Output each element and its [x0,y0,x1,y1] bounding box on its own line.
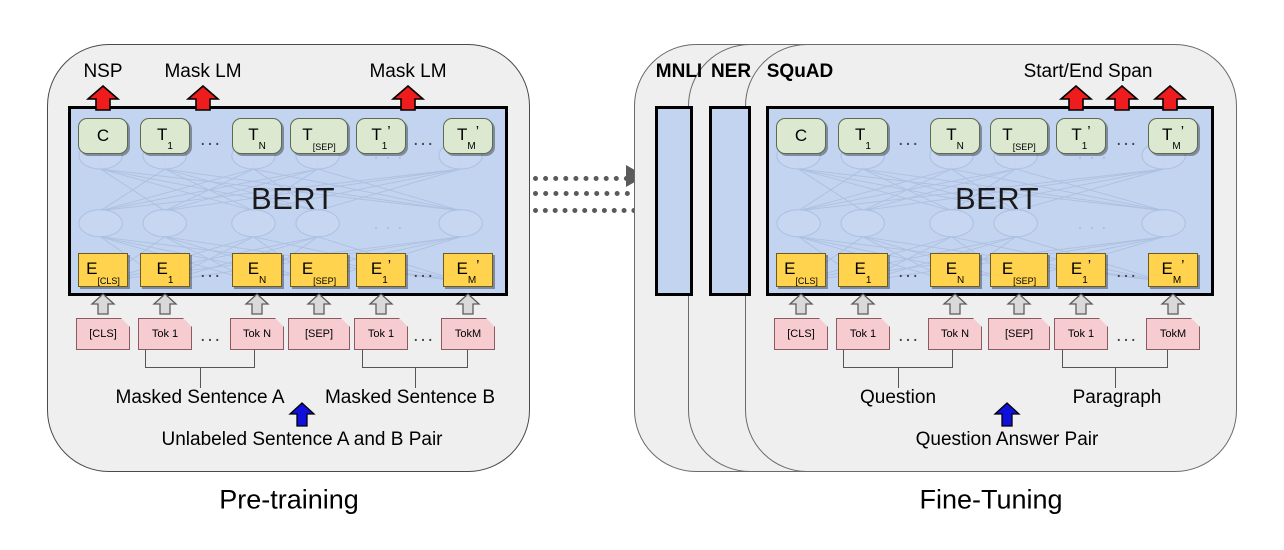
red-up-arrow-icon [86,85,120,111]
task-label-mnli: MNLI [656,61,702,83]
gray-up-arrow-icon [368,293,394,315]
embedding-ellipsis: ... [200,261,222,283]
gray-up-arrow-icon [244,293,270,315]
task-label-ner: NER [711,61,751,83]
token-text: TN [248,125,266,147]
token-text: T1 [855,125,871,147]
output-token: C [78,118,128,154]
output-token: TN [232,118,282,154]
token-text: E1’ [1071,259,1091,281]
bert-model-label: BERT [955,181,1039,217]
token-text: T1’ [371,125,390,147]
gray-up-arrow-icon [1006,293,1032,315]
finetuning-objective-label: Start/End Span [1024,61,1153,83]
token-text: E1 [855,259,872,281]
segment-bracket-stem [415,368,416,388]
token-text: E1’ [371,259,391,281]
output-token: TM’ [1148,118,1198,154]
embedding-token: E1’ [356,253,406,287]
pretraining-objective-mask-lm-a: Mask LM [164,61,241,83]
output-token: TM’ [443,118,493,154]
ner-bert-sliver [709,106,751,296]
segment-bracket-stem [200,368,201,388]
output-token: T1’ [356,118,406,154]
embedding-ellipsis: ... [898,261,920,283]
mnli-bert-sliver [655,106,693,296]
input-token: Tok 1 [836,318,890,350]
input-ellipsis: ... [1116,325,1138,347]
embedding-token: E[CLS] [78,253,128,287]
gray-up-arrow-icon [152,293,178,315]
input-token: Tok 1 [1054,318,1108,350]
token-text: T1 [157,125,173,147]
embedding-token: E[SEP] [990,253,1048,287]
token-text: E[SEP] [302,259,336,280]
token-text: C [795,126,807,146]
task-label-squad: SQuAD [767,61,834,83]
token-text: TM’ [457,125,479,147]
blue-up-arrow-icon [288,402,316,427]
pretraining-input-source-label: Unlabeled Sentence A and B Pair [162,429,443,451]
embedding-token: E[CLS] [776,253,826,287]
input-token: TokM [441,318,495,350]
finetuning-caption: Fine-Tuning [919,485,1062,516]
output-ellipsis: ... [1116,129,1138,151]
gray-up-arrow-icon [306,293,332,315]
embedding-token: EN [232,253,282,287]
gray-up-arrow-icon [788,293,814,315]
input-ellipsis: ... [413,325,435,347]
token-text: T[SEP] [1002,125,1035,146]
red-up-arrow-icon [1105,85,1139,111]
output-ellipsis: ... [898,129,920,151]
gray-up-arrow-icon [1068,293,1094,315]
input-ellipsis: ... [898,325,920,347]
embedding-token: E[SEP] [290,253,348,287]
segment-bracket-stem [898,368,899,388]
token-text: E[CLS] [86,259,120,280]
input-token: [SEP] [288,318,350,350]
segment-bracket-question [843,350,953,368]
embedding-token: EM’ [1148,253,1198,287]
input-token: Tok 1 [138,318,192,350]
output-ellipsis: ... [413,129,435,151]
segment-bracket-a [145,350,255,368]
token-text: EN [946,259,965,281]
token-text: C [97,126,109,146]
embedding-token: E1 [140,253,190,287]
red-up-arrow-icon [391,85,425,111]
segment-label-a: Masked Sentence A [116,387,285,409]
gray-up-arrow-icon [1160,293,1186,315]
gray-up-arrow-icon [90,293,116,315]
pretraining-objective-mask-lm-b: Mask LM [369,61,446,83]
embedding-ellipsis: ... [1116,261,1138,283]
finetuning-input-source-label: Question Answer Pair [916,429,1099,451]
output-token: C [776,118,826,154]
token-text: EM’ [1161,259,1184,281]
input-token: [SEP] [988,318,1050,350]
gray-up-arrow-icon [850,293,876,315]
embedding-token: E1 [838,253,888,287]
token-text: T[SEP] [302,125,335,146]
token-text: E[CLS] [784,259,818,280]
token-text: TN [946,125,964,147]
input-ellipsis: ... [200,325,222,347]
token-text: TM’ [1162,125,1184,147]
transfer-dotted-line [533,176,629,181]
segment-label-question: Question [860,387,936,409]
output-token: T[SEP] [990,118,1048,154]
bert-inner-ellipsis: · · · [1078,220,1108,235]
embedding-token: EN [930,253,980,287]
output-token: T1 [140,118,190,154]
input-token: Tok N [230,318,284,350]
embedding-ellipsis: ... [413,261,435,283]
embedding-token: EM’ [443,253,493,287]
pretraining-objective-nsp: NSP [83,61,122,83]
output-token: T1 [838,118,888,154]
segment-label-b: Masked Sentence B [325,387,495,409]
red-up-arrow-icon [186,85,220,111]
output-token: T[SEP] [290,118,348,154]
gray-up-arrow-icon [455,293,481,315]
bert-model-label: BERT [251,181,335,217]
pretraining-caption: Pre-training [219,485,359,516]
input-token: TokM [1146,318,1200,350]
input-token: Tok 1 [354,318,408,350]
input-token: Tok N [928,318,982,350]
pretraining-bert-panel: · · · · · · BERT [68,106,508,296]
gray-up-arrow-icon [942,293,968,315]
token-text: EM’ [456,259,479,281]
token-text: EN [248,259,267,281]
output-token: TN [930,118,980,154]
segment-bracket-b [362,350,468,368]
output-token: T1’ [1056,118,1106,154]
segment-label-paragraph: Paragraph [1073,387,1162,409]
segment-bracket-stem [1115,368,1116,388]
red-up-arrow-icon [1153,85,1187,111]
blue-up-arrow-icon [993,402,1021,427]
token-text: E1 [157,259,174,281]
embedding-token: E1’ [1056,253,1106,287]
bert-inner-ellipsis: · · · [374,220,404,235]
red-up-arrow-icon [1059,85,1093,111]
token-text: T1’ [1071,125,1090,147]
segment-bracket-paragraph [1062,350,1168,368]
input-token: [CLS] [76,318,130,350]
output-ellipsis: ... [200,129,222,151]
input-token: [CLS] [774,318,828,350]
token-text: E[SEP] [1002,259,1036,280]
